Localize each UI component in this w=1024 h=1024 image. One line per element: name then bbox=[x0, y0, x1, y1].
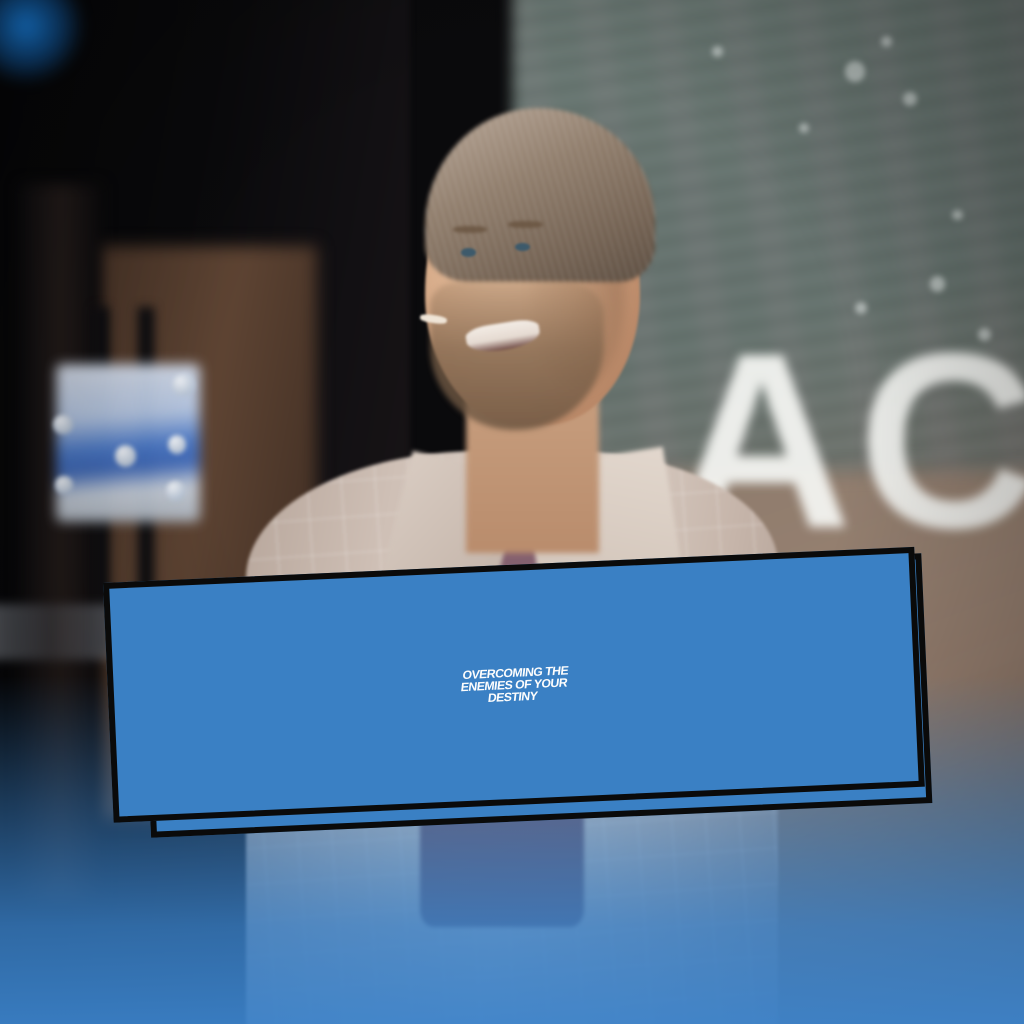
sermon-title-graphic: AC bbox=[0, 0, 1024, 1024]
background-photo: AC bbox=[0, 0, 1024, 1024]
title-plaque: OVERCOMING THE ENEMIES OF YOUR DESTINY bbox=[103, 547, 925, 823]
title-text-block: OVERCOMING THE ENEMIES OF YOUR DESTINY bbox=[112, 649, 915, 722]
